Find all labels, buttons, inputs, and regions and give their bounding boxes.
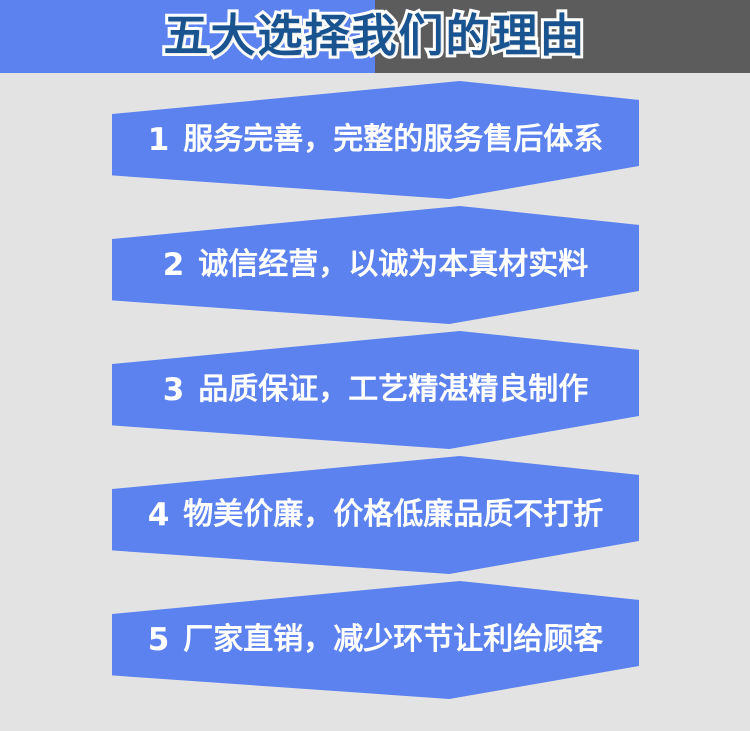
reasons-list: 1 服务完善，完整的服务售后体系 2 诚信经营，以诚为本真材实料 3 品质保证，… — [0, 73, 750, 731]
banner-label: 2 诚信经营，以诚为本真材实料 — [112, 206, 639, 324]
list-item: 1 服务完善，完整的服务售后体系 — [112, 81, 639, 199]
list-item: 5 厂家直销，减少环节让利给顾客 — [112, 581, 639, 699]
banner-text: 诚信经营，以诚为本真材实料 — [198, 250, 588, 280]
list-item: 4 物美价廉，价格低廉品质不打折 — [112, 456, 639, 574]
banner-label: 1 服务完善，完整的服务售后体系 — [112, 81, 639, 199]
banner-text: 服务完善，完整的服务售后体系 — [183, 125, 603, 155]
header-bar: 五大选择我们的理由 — [0, 0, 750, 73]
banner-label: 5 厂家直销，减少环节让利给顾客 — [112, 581, 639, 699]
banner-number: 5 — [148, 625, 170, 656]
banner-number: 1 — [148, 125, 170, 156]
banner-label: 4 物美价廉，价格低廉品质不打折 — [112, 456, 639, 574]
banner-text: 物美价廉，价格低廉品质不打折 — [183, 500, 603, 530]
banner-number: 4 — [148, 500, 170, 531]
page-title: 五大选择我们的理由 — [0, 0, 750, 73]
banner-text: 厂家直销，减少环节让利给顾客 — [183, 625, 603, 655]
banner-number: 3 — [163, 375, 185, 406]
list-item: 3 品质保证，工艺精湛精良制作 — [112, 331, 639, 449]
banner-text: 品质保证，工艺精湛精良制作 — [198, 375, 588, 405]
banner-label: 3 品质保证，工艺精湛精良制作 — [112, 331, 639, 449]
list-item: 2 诚信经营，以诚为本真材实料 — [112, 206, 639, 324]
banner-number: 2 — [163, 250, 185, 281]
promo-banner-page: 五大选择我们的理由 1 服务完善，完整的服务售后体系 2 诚信经营，以诚为本真材… — [0, 0, 750, 731]
